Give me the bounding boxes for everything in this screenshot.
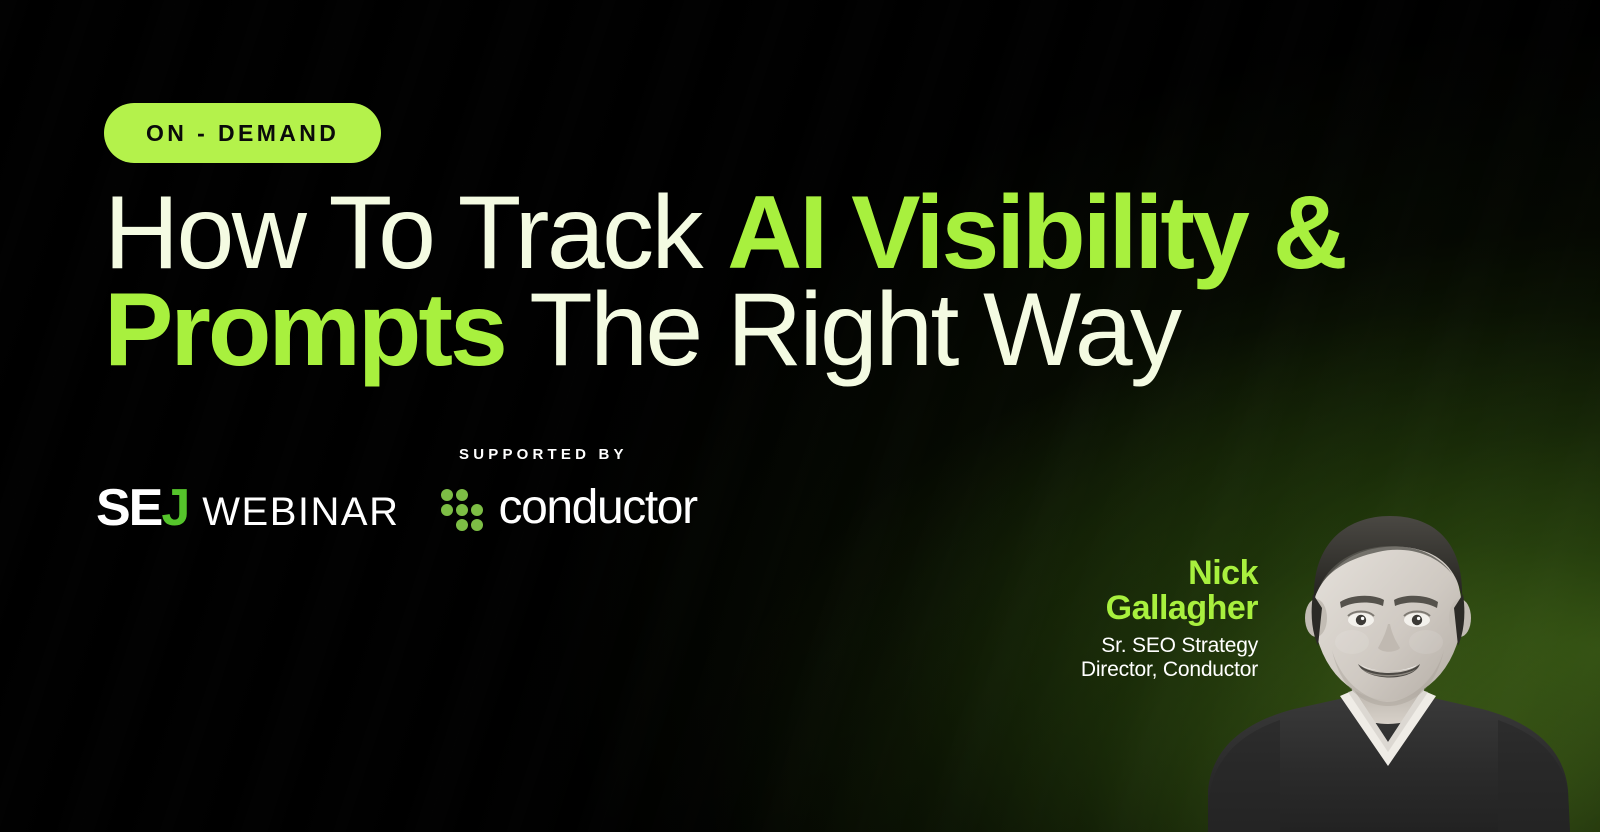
conductor-logo: conductor — [441, 484, 696, 532]
conductor-wordmark: conductor — [498, 484, 696, 532]
sej-mark-se: SE — [96, 479, 161, 537]
sej-webinar-logo: SEJ WEBINAR — [96, 482, 399, 534]
headline-line-2: Prompts The Right Way — [104, 280, 1384, 382]
headline-line-2-strong: Prompts — [104, 272, 505, 388]
content-layer: ON - DEMAND How To Track AI Visibility &… — [0, 0, 1600, 832]
sponsor-logo-row: SEJ WEBINAR conductor — [96, 482, 697, 534]
webinar-promo-banner: ON - DEMAND How To Track AI Visibility &… — [0, 0, 1600, 832]
page-title: How To Track AI Visibility & Prompts The… — [104, 183, 1384, 382]
sej-wordmark: SEJ — [96, 482, 188, 534]
sej-webinar-label: WEBINAR — [202, 492, 399, 532]
conductor-dots-icon — [441, 486, 483, 530]
on-demand-badge: ON - DEMAND — [104, 103, 381, 163]
sej-mark-j: J — [161, 479, 188, 537]
headline-line-2-light: The Right Way — [505, 272, 1180, 388]
speaker-headshot — [1172, 490, 1600, 832]
speaker-headshot-graphic — [1172, 490, 1600, 832]
headline-line-1: How To Track AI Visibility & — [104, 183, 1384, 285]
supported-by-label: SUPPORTED BY — [459, 446, 628, 463]
